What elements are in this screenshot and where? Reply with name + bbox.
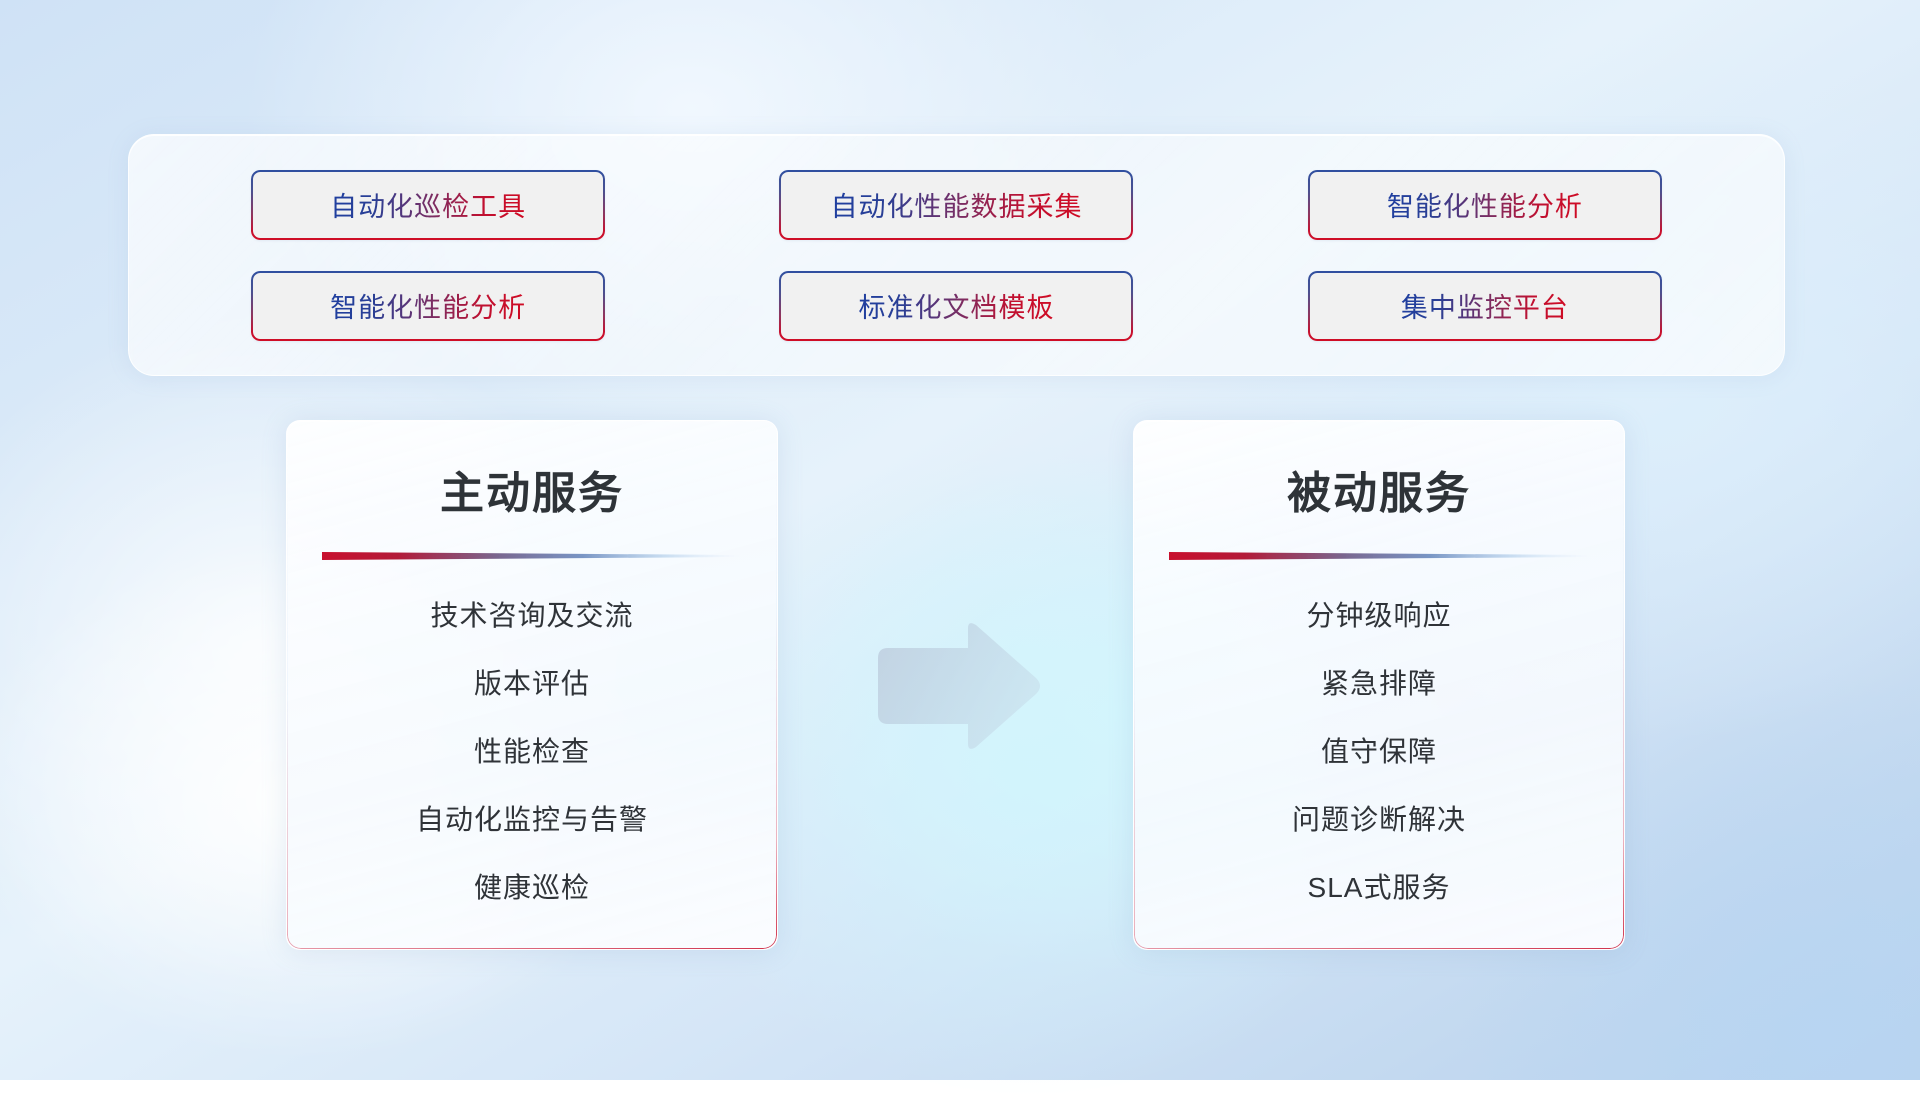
service-list-item: 值守保障 [1134,730,1624,770]
capability-chip-5[interactable]: 标准化文档模板 [779,271,1133,341]
service-card-title: 被动服务 [1134,457,1624,521]
title-divider [1169,551,1589,560]
capability-chip-label: 智能化性能分析 [330,286,526,325]
service-list-item: 分钟级响应 [1134,594,1624,634]
capability-chip-grid: 自动化巡检工具 自动化性能数据采集 智能化性能分析 智能化性能分析 标准化文档模… [129,135,1784,375]
flow-arrow-right-icon [872,620,1044,752]
service-list-item: 技术咨询及交流 [287,594,777,634]
service-list-item: 问题诊断解决 [1134,798,1624,838]
service-list-item: SLA式服务 [1134,866,1624,906]
service-card-title: 主动服务 [287,457,777,521]
service-card-active: 主动服务 技术咨询及交流 版本评估 性能检查 自动化监控与告警 健康巡检 [286,420,778,950]
service-item-list: 分钟级响应 紧急排障 值守保障 问题诊断解决 SLA式服务 [1134,594,1624,906]
capability-chip-3[interactable]: 智能化性能分析 [1308,170,1662,240]
capability-chip-label: 标准化文档模板 [858,286,1054,325]
capability-panel: 自动化巡检工具 自动化性能数据采集 智能化性能分析 智能化性能分析 标准化文档模… [128,134,1785,376]
service-list-item: 自动化监控与告警 [287,798,777,838]
capability-chip-1[interactable]: 自动化巡检工具 [251,170,605,240]
title-divider [322,551,742,560]
service-card-passive: 被动服务 分钟级响应 紧急排障 值守保障 问题诊断解决 SLA式服务 [1133,420,1625,950]
capability-chip-label: 自动化巡检工具 [330,185,526,224]
capability-chip-2[interactable]: 自动化性能数据采集 [779,170,1133,240]
capability-chip-label: 智能化性能分析 [1387,185,1583,224]
service-list-item: 性能检查 [287,730,777,770]
service-list-item: 版本评估 [287,662,777,702]
capability-chip-label: 自动化性能数据采集 [830,185,1082,224]
service-list-item: 紧急排障 [1134,662,1624,702]
service-item-list: 技术咨询及交流 版本评估 性能检查 自动化监控与告警 健康巡检 [287,594,777,906]
capability-chip-label: 集中监控平台 [1401,286,1569,325]
service-list-item: 健康巡检 [287,866,777,906]
capability-chip-6[interactable]: 集中监控平台 [1308,271,1662,341]
capability-chip-4[interactable]: 智能化性能分析 [251,271,605,341]
